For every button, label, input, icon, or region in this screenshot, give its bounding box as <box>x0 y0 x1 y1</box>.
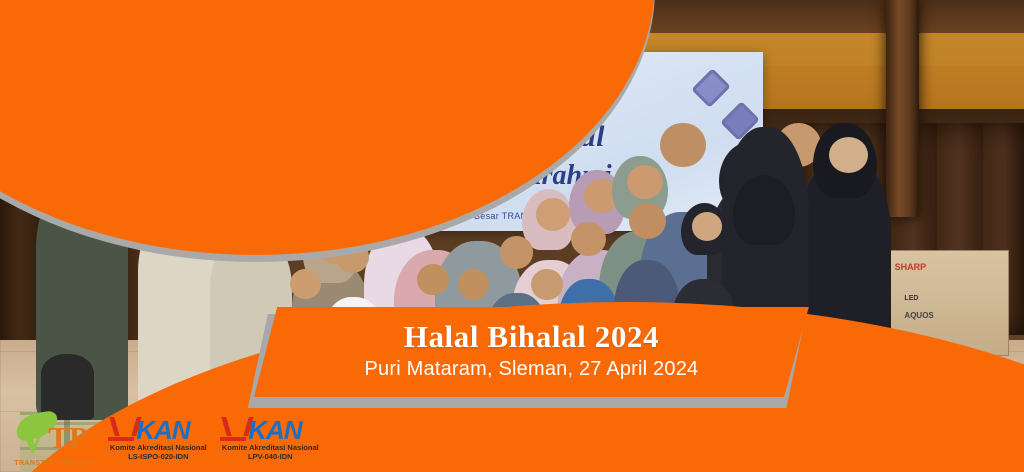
child-head <box>629 203 666 239</box>
logo-strip: V TP TRANSTRA PERMADA KAN Komite Akredit… <box>12 411 322 467</box>
event-banner-image: VTP Halal Bihalal dan Silaturahmi Keluar… <box>0 0 1024 472</box>
person-hijab <box>733 175 794 246</box>
ketupat-decoration <box>691 69 731 109</box>
event-title: Halal Bihalal 2024 <box>254 319 809 355</box>
person-head <box>627 165 663 199</box>
kan-caption: Komite Akreditasi Nasional <box>218 443 322 452</box>
transtra-permada-logo: V TP TRANSTRA PERMADA <box>12 411 98 467</box>
kan-underbar <box>108 437 134 441</box>
kan-caption: Komite Akreditasi Nasional <box>106 443 210 452</box>
logo-letter-v: V <box>18 419 47 459</box>
child-head <box>571 222 606 256</box>
tv-box-brand: SHARP <box>895 262 927 272</box>
kan-underbar <box>220 437 246 441</box>
checkmark-icon <box>222 417 248 439</box>
event-subtitle: Puri Mataram, Sleman, 27 April 2024 <box>254 358 809 381</box>
logo-letters-tp: TP <box>48 422 88 453</box>
tv-box-model-code: LED <box>904 295 918 302</box>
title-banner: Halal Bihalal 2024 Puri Mataram, Sleman,… <box>254 307 809 398</box>
kan-wordmark: KAN <box>248 415 301 446</box>
child-head <box>417 264 449 295</box>
person-head <box>660 123 705 167</box>
kan-logo-ispo: KAN Komite Akreditasi Nasional LS-ISPO-0… <box>106 417 210 467</box>
person-head <box>829 137 868 173</box>
tv-box-model: AQUOS <box>904 311 933 320</box>
child-head <box>290 269 321 299</box>
child-head <box>692 212 722 240</box>
kan-accreditation-number: LS-ISPO-020-IDN <box>106 452 210 461</box>
checkmark-icon <box>110 417 136 439</box>
kan-logo-lpv: KAN Komite Akreditasi Nasional LPV-040-I… <box>218 417 322 467</box>
kan-wordmark: KAN <box>136 415 189 446</box>
kan-accreditation-number: LPV-040-IDN <box>218 452 322 461</box>
company-name: TRANSTRA PERMADA <box>12 460 98 467</box>
wooden-pillar <box>886 0 919 217</box>
